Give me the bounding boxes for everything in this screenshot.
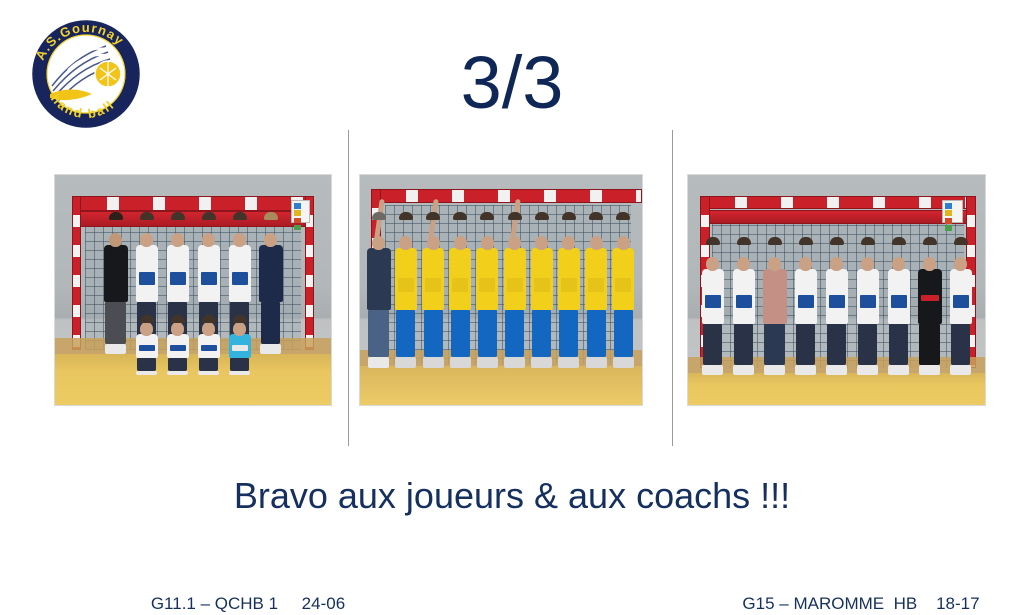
person-coach (366, 212, 392, 368)
person-player (946, 237, 976, 375)
gym-floor (360, 366, 642, 405)
team-photo-g15 (360, 175, 642, 405)
person-player (822, 237, 852, 375)
person-player (420, 212, 446, 368)
person-player (583, 212, 609, 368)
team-row-back (366, 212, 637, 368)
team-photo-g11-2 (688, 175, 985, 405)
slide-title: 3/3 (0, 40, 1024, 126)
person-player (853, 237, 883, 375)
goal-crossbar (700, 196, 976, 210)
person-goalkeeper (225, 315, 255, 375)
column-divider-1 (348, 130, 349, 446)
person-player (194, 315, 224, 375)
team-row-back (694, 237, 979, 375)
congratulations-banner: Bravo aux joueurs & aux coachs !!! (0, 474, 1024, 518)
person-player (474, 212, 500, 368)
person-player (447, 212, 473, 368)
goal-pad (700, 210, 976, 225)
team-row-front (61, 279, 326, 376)
person-player (393, 212, 419, 368)
sponsor-placard (942, 200, 963, 223)
photo-column-3: G11.2 – QCHB 2 13-06 (688, 175, 985, 405)
photo-column-2: G15 – MAROMME HB 18-17 (360, 175, 642, 405)
person-player (163, 315, 193, 375)
person-player (529, 212, 555, 368)
team-photo-g11-1 (55, 175, 331, 405)
gym-floor (688, 373, 985, 405)
goal-crossbar (72, 196, 315, 211)
person-player (556, 212, 582, 368)
person-coach (915, 237, 945, 375)
person-player (502, 212, 528, 368)
person-player (610, 212, 636, 368)
person-player (729, 237, 759, 375)
person-coach (760, 237, 790, 375)
person-player (698, 237, 728, 375)
photo-column-1: G11.1 – QCHB 1 24-06 (55, 175, 331, 405)
goal-crossbar (371, 189, 642, 203)
person-player (791, 237, 821, 375)
person-player (884, 237, 914, 375)
column-divider-2 (672, 130, 673, 446)
photo-caption-2: G15 – MAROMME HB 18-17 (720, 593, 1002, 615)
photo-caption-1: G11.1 – QCHB 1 24-06 (110, 593, 386, 615)
person-player (132, 315, 162, 375)
